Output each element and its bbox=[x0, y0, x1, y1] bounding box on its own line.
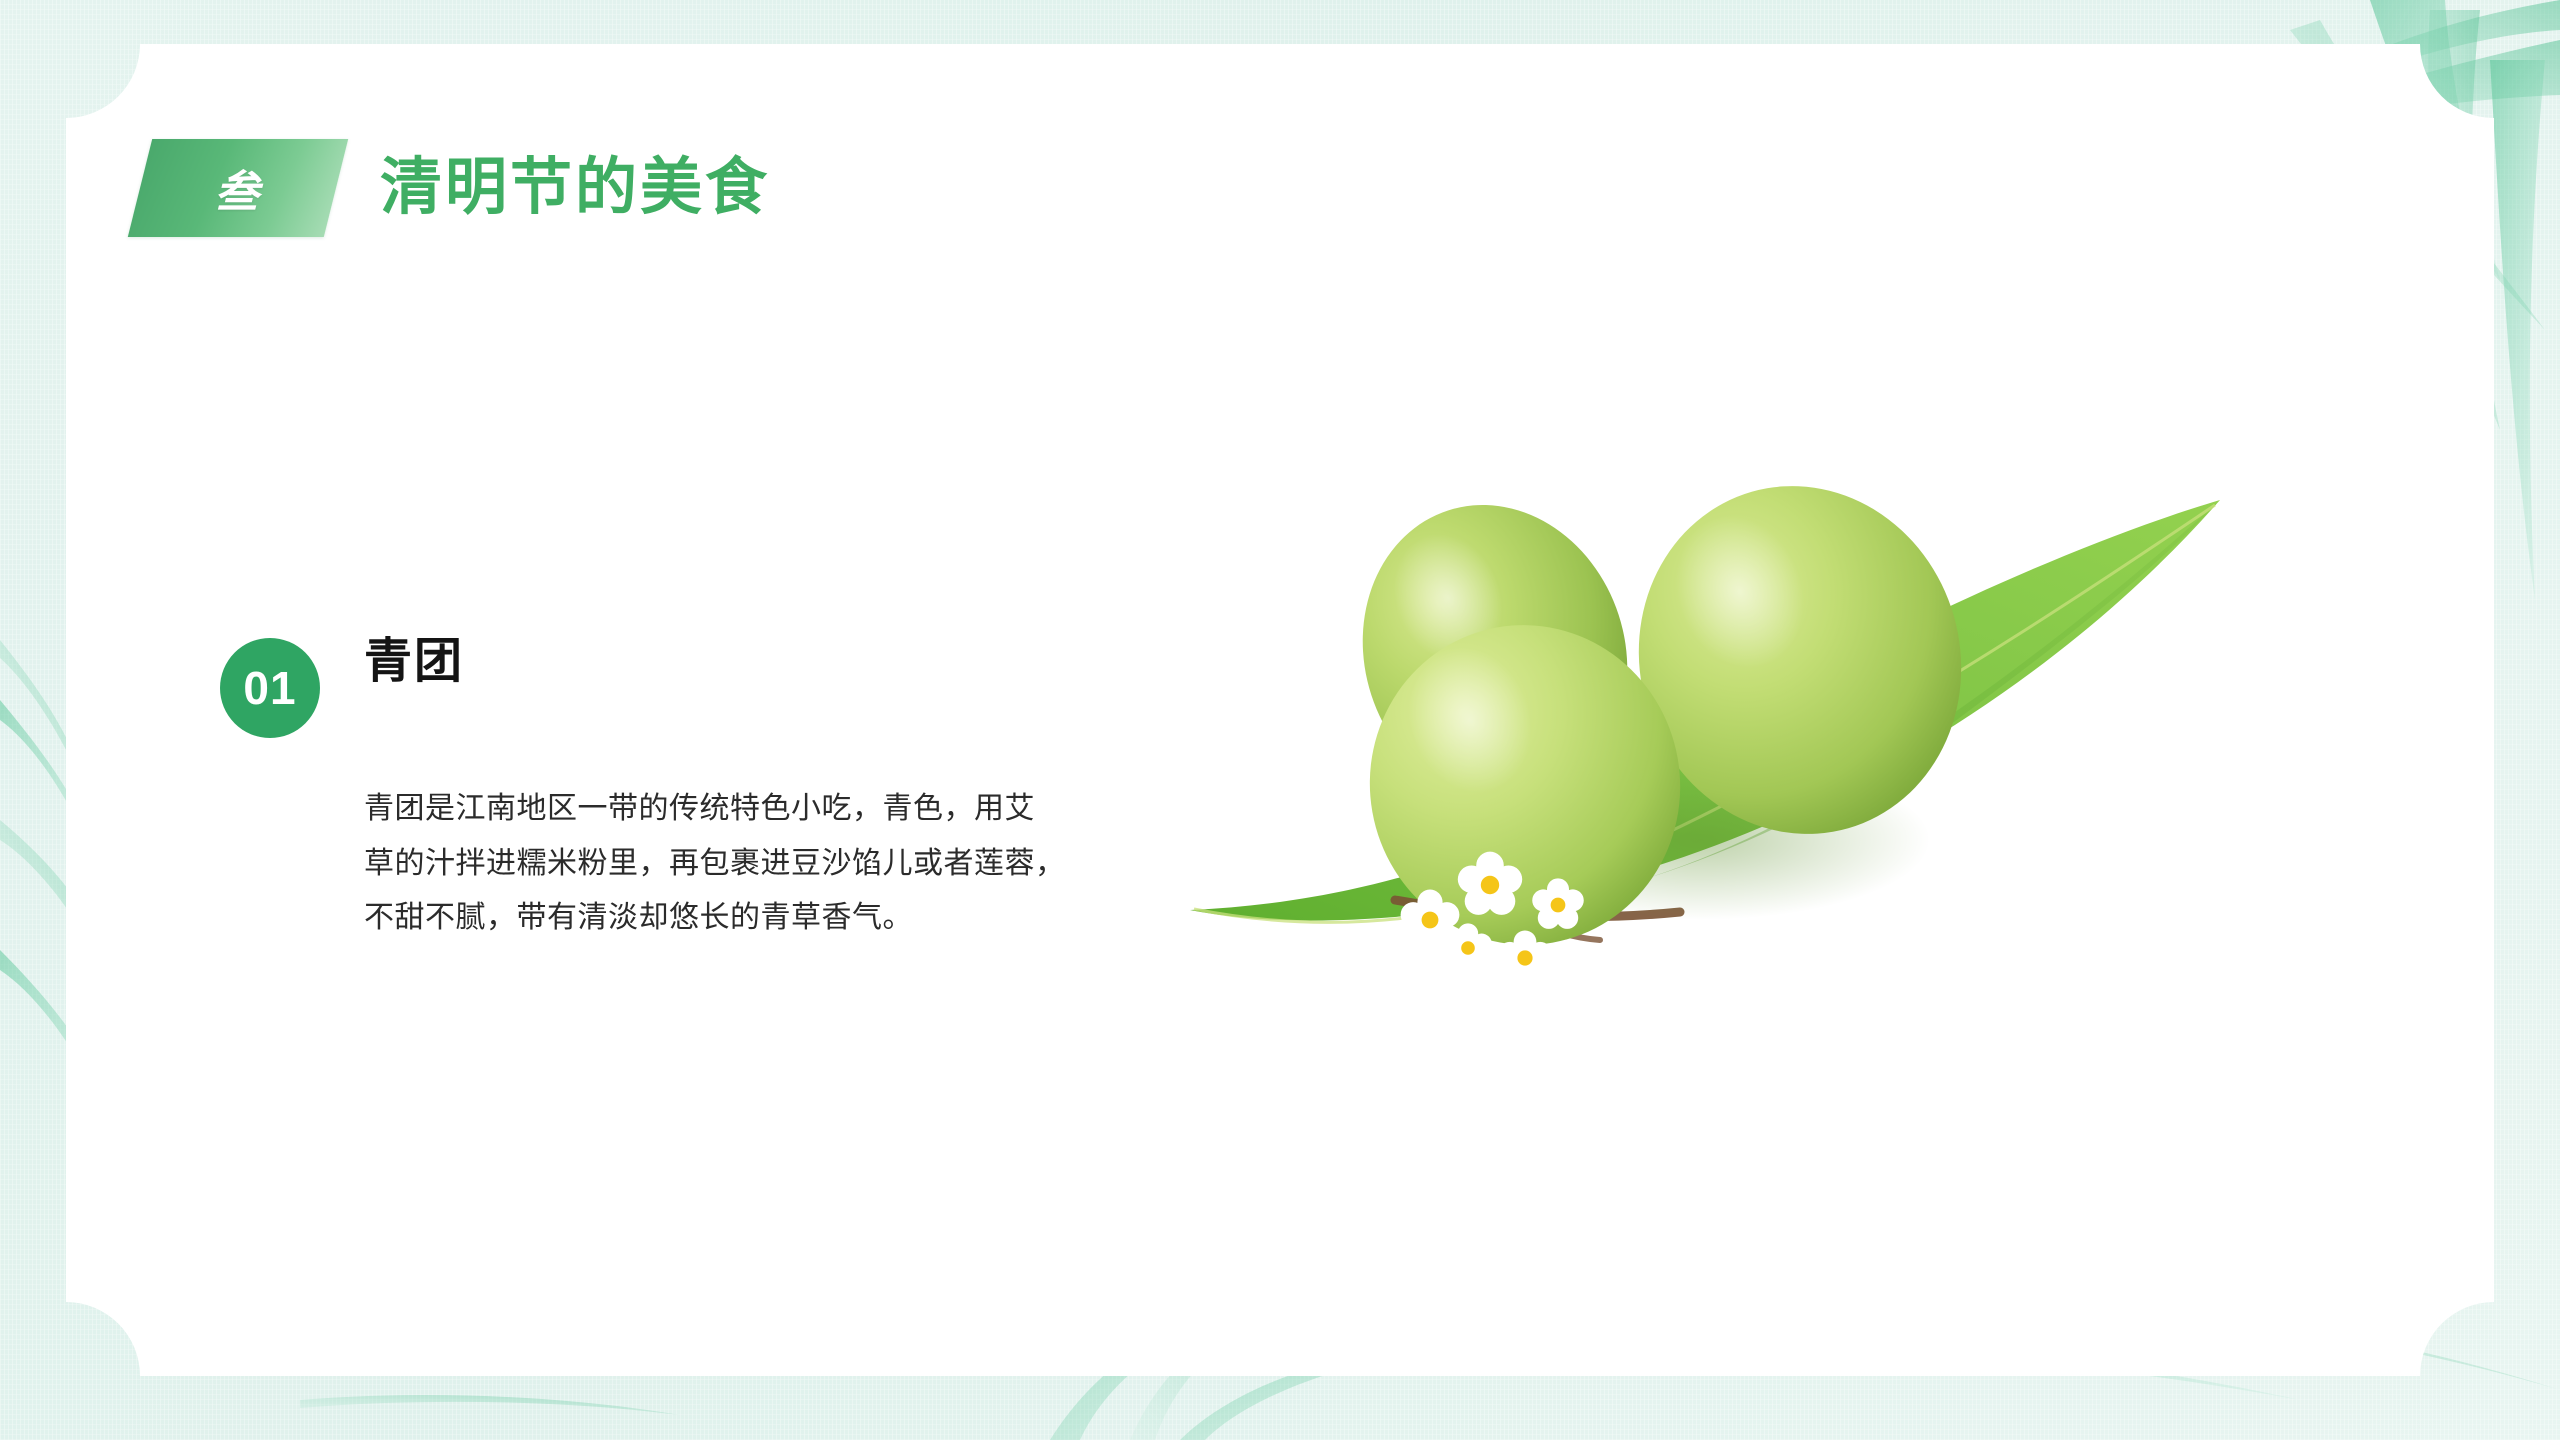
section-number-label: 叁 bbox=[215, 156, 261, 220]
section-number-badge: 叁 bbox=[128, 139, 348, 237]
slide-header: 叁 清明节的美食 bbox=[140, 134, 770, 242]
qingtuan-illustration bbox=[1180, 480, 2240, 1040]
page-title: 清明节的美食 bbox=[380, 157, 770, 219]
slide-canvas: 叁 清明节的美食 01 青团 青团是江南地区一带的传统特色小吃，青色，用艾 草的… bbox=[0, 0, 2560, 1440]
qingtuan-illustration-svg bbox=[1180, 480, 2240, 1040]
feature-title: 青团 bbox=[364, 636, 464, 689]
feature-header: 01 青团 bbox=[220, 630, 1050, 740]
feature-number-badge: 01 bbox=[220, 638, 320, 738]
feature-block: 01 青团 青团是江南地区一带的传统特色小吃，青色，用艾 草的汁拌进糯米粉里，再… bbox=[220, 630, 1050, 946]
feature-description: 青团是江南地区一带的传统特色小吃，青色，用艾 草的汁拌进糯米粉里，再包裹进豆沙馅… bbox=[364, 782, 1109, 946]
feature-description-line: 草的汁拌进糯米粉里，再包裹进豆沙馅儿或者莲蓉， bbox=[364, 837, 1109, 892]
feature-description-line: 不甜不腻，带有清淡却悠长的青草香气。 bbox=[364, 891, 1109, 946]
feature-description-line: 青团是江南地区一带的传统特色小吃，青色，用艾 bbox=[364, 782, 1109, 837]
